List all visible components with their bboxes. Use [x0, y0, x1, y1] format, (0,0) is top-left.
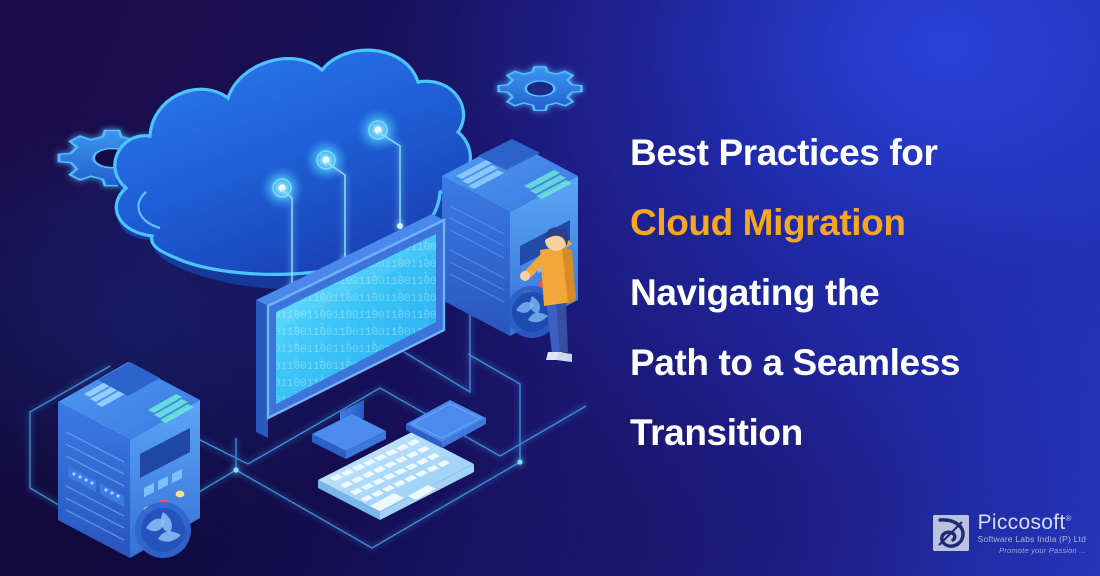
server-left	[58, 362, 200, 558]
logo-trademark-icon: ®	[1066, 514, 1072, 523]
headline-line-5: Transition	[630, 398, 1090, 468]
piccosoft-logo-mark	[933, 515, 969, 551]
headline-line-3: Navigating the	[630, 258, 1090, 328]
logo-subtitle: Software Labs India (P) Ltd	[978, 535, 1086, 544]
logo-brand-label: Piccosoft	[978, 511, 1066, 534]
illustration: 10 01 1	[0, 0, 620, 576]
piccosoft-logo[interactable]: Piccosoft® Software Labs India (P) Ltd P…	[933, 512, 1086, 554]
gear-top-icon	[482, 58, 597, 119]
headline-line-2-accent: Cloud Migration	[630, 188, 1090, 258]
piccosoft-logo-text: Piccosoft® Software Labs India (P) Ltd P…	[978, 512, 1086, 554]
logo-tagline: Promote your Passion ...	[978, 547, 1086, 555]
headline-line-4: Path to a Seamless	[630, 328, 1090, 398]
logo-brand-name: Piccosoft®	[978, 512, 1072, 533]
headline-block: Best Practices for Cloud Migration Navig…	[630, 118, 1090, 468]
headline-line-1: Best Practices for	[630, 118, 1090, 188]
cloud-migration-banner: 10 01 1	[0, 0, 1100, 576]
